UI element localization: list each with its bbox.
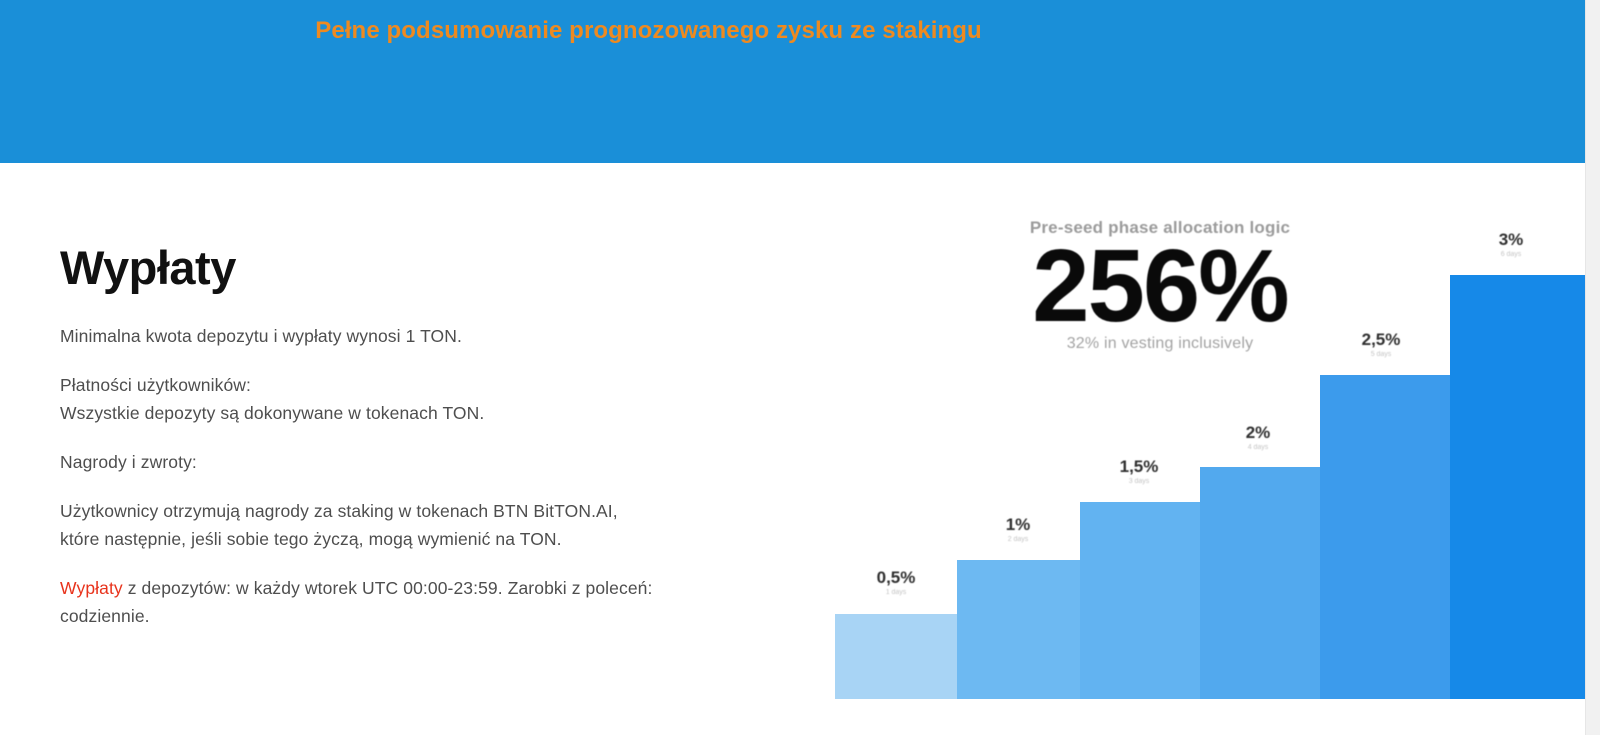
- chart-bar-sublabel: 4 days: [1220, 443, 1296, 453]
- staking-growth-chart: Pre-seed phase allocation logic 256% 32%…: [820, 170, 1585, 717]
- chart-bar: [957, 560, 1080, 699]
- chart-bar: [835, 614, 957, 699]
- chart-bar: [1200, 467, 1320, 699]
- chart-bar-sublabel: 3 days: [1101, 477, 1177, 487]
- paragraph-rewards-label: Nagrody i zwroty:: [60, 448, 660, 476]
- paragraph-minimum-deposit: Minimalna kwota depozytu i wypłaty wynos…: [60, 322, 660, 350]
- chart-bar-sublabel: 2 days: [980, 535, 1056, 545]
- top-banner: Pełne podsumowanie prognozowanego zysku …: [0, 0, 1585, 163]
- chart-bar-sublabel: 1 days: [858, 588, 934, 598]
- paragraph-withdrawal-schedule: Wypłaty z depozytów: w każdy wtorek UTC …: [60, 574, 660, 630]
- chart-bar-sublabel: 5 days: [1343, 350, 1419, 360]
- paragraph-payments-label: Płatności użytkowników:: [60, 371, 660, 399]
- spacer: [60, 350, 660, 371]
- spacer: [60, 476, 660, 497]
- withdrawal-schedule-rest: z depozytów: w każdy wtorek UTC 00:00-23…: [60, 578, 652, 626]
- page-scrollbar[interactable]: [1585, 0, 1600, 735]
- chart-bar-value: 3%: [1473, 230, 1549, 250]
- chart-bar-value: 1,5%: [1101, 457, 1177, 477]
- chart-bar-value: 2%: [1220, 423, 1296, 443]
- chart-bar-label: 1%2 days: [980, 515, 1056, 545]
- banner-title: Pełne podsumowanie prognozowanego zysku …: [0, 16, 1297, 46]
- article-column: Wypłaty Minimalna kwota depozytu i wypła…: [60, 240, 660, 630]
- paragraph-rewards-detail: Użytkownicy otrzymują nagrody za staking…: [60, 497, 660, 553]
- chart-bar-label: 2,5%5 days: [1343, 330, 1419, 360]
- spacer: [60, 427, 660, 448]
- chart-bar-label: 1,5%3 days: [1101, 457, 1177, 487]
- chart-bar-sublabel: 6 days: [1473, 250, 1549, 260]
- chart-bar-value: 2,5%: [1343, 330, 1419, 350]
- chart-bar-label: 0,5%1 days: [858, 568, 934, 598]
- chart-bar-value: 1%: [980, 515, 1056, 535]
- chart-bar: [1320, 375, 1450, 699]
- chart-bars-layer: 0,5%1 days1%2 days1,5%3 days2%4 days2,5%…: [820, 170, 1585, 717]
- chart-bar: [1450, 275, 1585, 699]
- page-title: Wypłaty: [60, 240, 660, 296]
- chart-bar-label: 2%4 days: [1220, 423, 1296, 453]
- chart-bar: [1080, 502, 1200, 699]
- chart-bar-value: 0,5%: [858, 568, 934, 588]
- paragraph-deposits-in-ton: Wszystkie depozyty są dokonywane w token…: [60, 399, 660, 427]
- spacer: [60, 553, 660, 574]
- spacer: [60, 296, 660, 322]
- withdrawals-highlight: Wypłaty: [60, 578, 123, 598]
- page-root: Pełne podsumowanie prognozowanego zysku …: [0, 0, 1600, 735]
- chart-bar-label: 3%6 days: [1473, 230, 1549, 260]
